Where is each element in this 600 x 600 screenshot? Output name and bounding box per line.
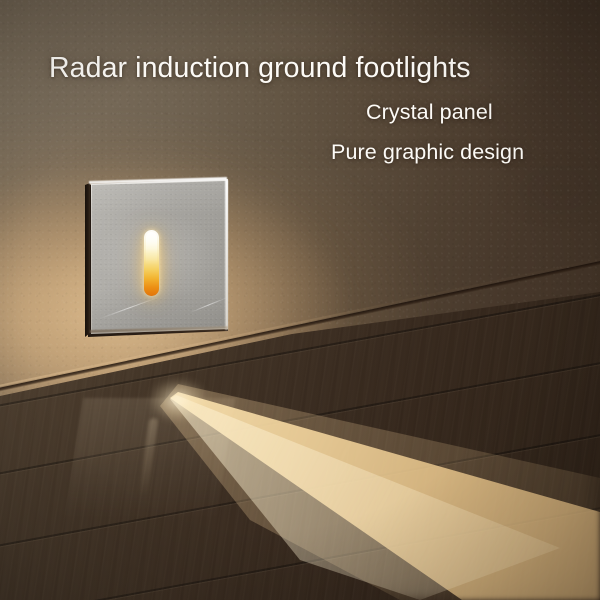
fixture-right-highlight — [225, 180, 228, 330]
product-hero-image: Radar induction ground footlights Crysta… — [0, 0, 600, 600]
product-feature-line-1: Crystal panel — [366, 100, 493, 125]
marketing-copy: Radar induction ground footlights Crysta… — [0, 0, 600, 200]
product-headline: Radar induction ground footlights — [49, 52, 471, 85]
fixture-left-edge-shadow — [85, 183, 90, 337]
led-light-core — [146, 232, 157, 294]
product-feature-line-2: Pure graphic design — [331, 140, 524, 165]
